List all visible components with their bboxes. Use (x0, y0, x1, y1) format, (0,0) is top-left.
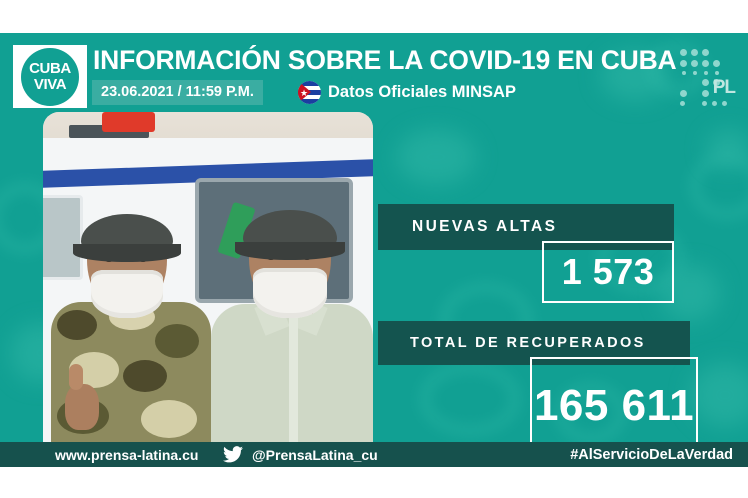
date-badge: 23.06.2021 / 11:59 P.M. (92, 80, 263, 105)
website-link[interactable]: www.prensa-latina.cu (55, 447, 198, 463)
footer: www.prensa-latina.cu @PrensaLatina_cu #A… (0, 442, 748, 467)
header: CUBA VIVA INFORMACIÓN SOBRE LA COVID-19 … (0, 33, 748, 111)
twitter-handle[interactable]: @PrensaLatina_cu (252, 447, 378, 463)
background-texture (396, 129, 476, 185)
pl-letters: PL (713, 78, 735, 97)
background-texture (420, 363, 520, 435)
logo-circle: CUBA VIVA (21, 48, 79, 106)
background-texture (706, 129, 748, 169)
infographic-canvas: CUBA VIVA INFORMACIÓN SOBRE LA COVID-19 … (0, 0, 748, 498)
source-label: Datos Oficiales MINSAP (328, 83, 516, 102)
source-row: ★ Datos Oficiales MINSAP (298, 81, 516, 104)
background-texture (690, 153, 748, 219)
cuba-flag-icon: ★ (298, 81, 321, 104)
stat-label: NUEVAS ALTAS (412, 218, 557, 236)
hashtag: #AlServicioDeLaVerdad (570, 447, 733, 463)
stat-label: TOTAL DE RECUPERADOS (410, 335, 646, 351)
covid-photo (43, 112, 373, 442)
teal-graphic-panel: CUBA VIVA INFORMACIÓN SOBRE LA COVID-19 … (0, 33, 748, 467)
stat-box-total-recuperados: 165 611 (530, 357, 698, 455)
stat-value: 1 573 (562, 254, 655, 290)
page-title: INFORMACIÓN SOBRE LA COVID-19 EN CUBA (93, 45, 673, 76)
stat-value: 165 611 (534, 384, 694, 428)
logo-line-1: CUBA (29, 61, 71, 76)
stat-box-nuevas-altas: 1 573 (542, 241, 674, 303)
prensa-latina-dot-logo: PL (676, 46, 734, 104)
logo-line-2: VIVA (34, 77, 66, 92)
cuba-viva-logo: CUBA VIVA (13, 45, 87, 108)
twitter-bird-icon[interactable] (223, 446, 243, 463)
background-texture (690, 363, 748, 427)
